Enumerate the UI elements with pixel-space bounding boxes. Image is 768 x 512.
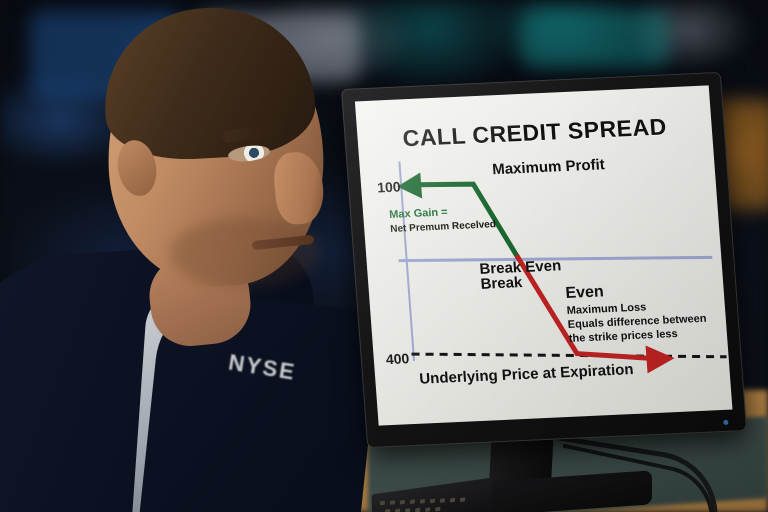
max-loss-sublabel: Maximum Loss Equals difference between t… <box>566 299 708 346</box>
y-axis-tick-bottom: 400 <box>385 350 410 367</box>
y-axis-tick-top: 100 <box>377 178 402 195</box>
screenshot-scene: NYSE CALL CREDIT SPREAD <box>0 0 768 512</box>
monitor-screen[interactable]: CALL CREDIT SPREAD <box>355 85 733 425</box>
monitor[interactable]: CALL CREDIT SPREAD <box>341 72 747 448</box>
loss-arrow-icon <box>646 344 676 373</box>
break-even-label: Break Even Break <box>479 258 563 292</box>
max-loss-label: Even <box>565 283 605 303</box>
payoff-diagram: 100 400 Maximum Profit Max Gain = Net Pr… <box>355 85 733 425</box>
trader-photo: NYSE <box>0 0 400 512</box>
trader-jaw-shadow <box>170 218 320 288</box>
background-monitor-glow-3 <box>520 8 670 68</box>
